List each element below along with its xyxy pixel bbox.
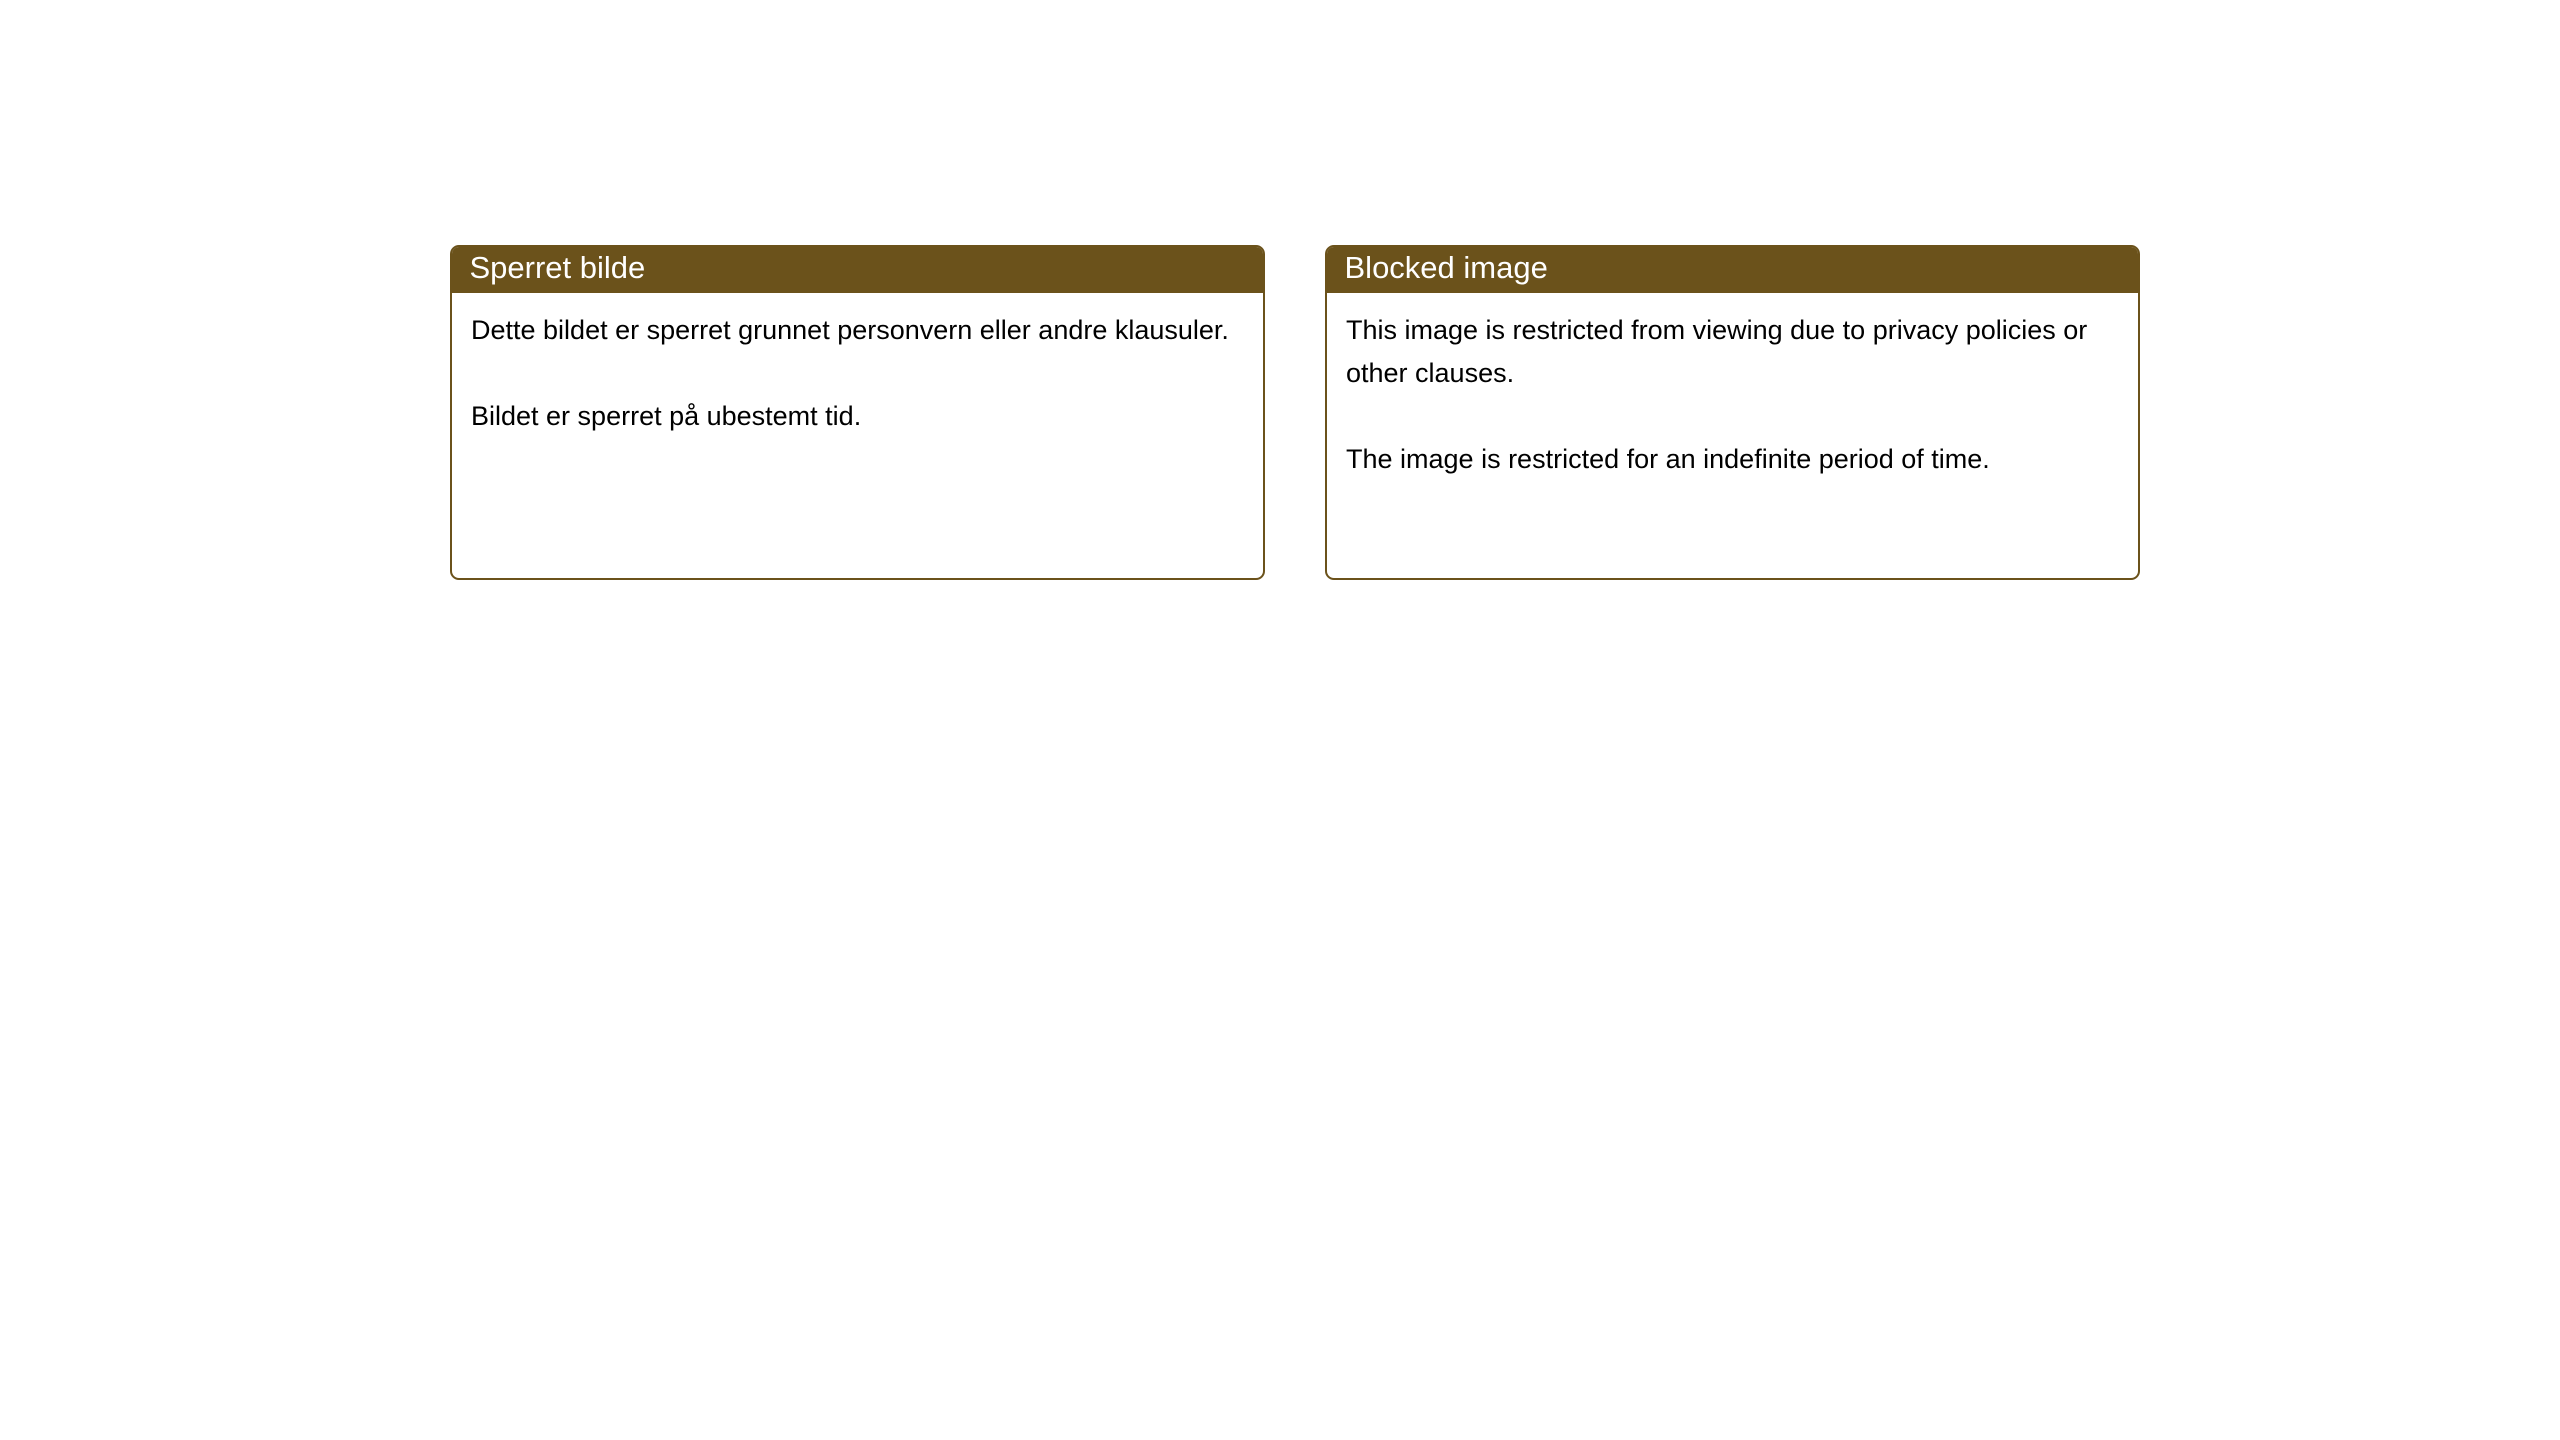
panel-header-norwegian: Sperret bilde	[450, 245, 1265, 293]
panel-body-english: This image is restricted from viewing du…	[1327, 293, 2138, 579]
panel-paragraph-primary-norwegian: Dette bildet er sperret grunnet personve…	[471, 309, 1231, 352]
panel-title-norwegian: Sperret bilde	[450, 250, 645, 286]
paragraph-spacer	[1346, 395, 2116, 438]
blocked-image-notice-group: Sperret bilde Dette bildet er sperret gr…	[450, 245, 2140, 580]
blocked-image-panel-english: Blocked image This image is restricted f…	[1325, 245, 2140, 580]
blocked-image-panel-norwegian: Sperret bilde Dette bildet er sperret gr…	[450, 245, 1265, 580]
page-root: Sperret bilde Dette bildet er sperret gr…	[0, 0, 2560, 1440]
panel-paragraph-secondary-english: The image is restricted for an indefinit…	[1346, 438, 2106, 481]
panel-paragraph-secondary-norwegian: Bildet er sperret på ubestemt tid.	[471, 395, 1231, 438]
paragraph-spacer	[471, 352, 1241, 395]
panel-paragraph-primary-english: This image is restricted from viewing du…	[1346, 309, 2106, 395]
panel-header-english: Blocked image	[1325, 245, 2140, 293]
panel-body-norwegian: Dette bildet er sperret grunnet personve…	[452, 293, 1263, 579]
panel-title-english: Blocked image	[1325, 250, 1548, 286]
